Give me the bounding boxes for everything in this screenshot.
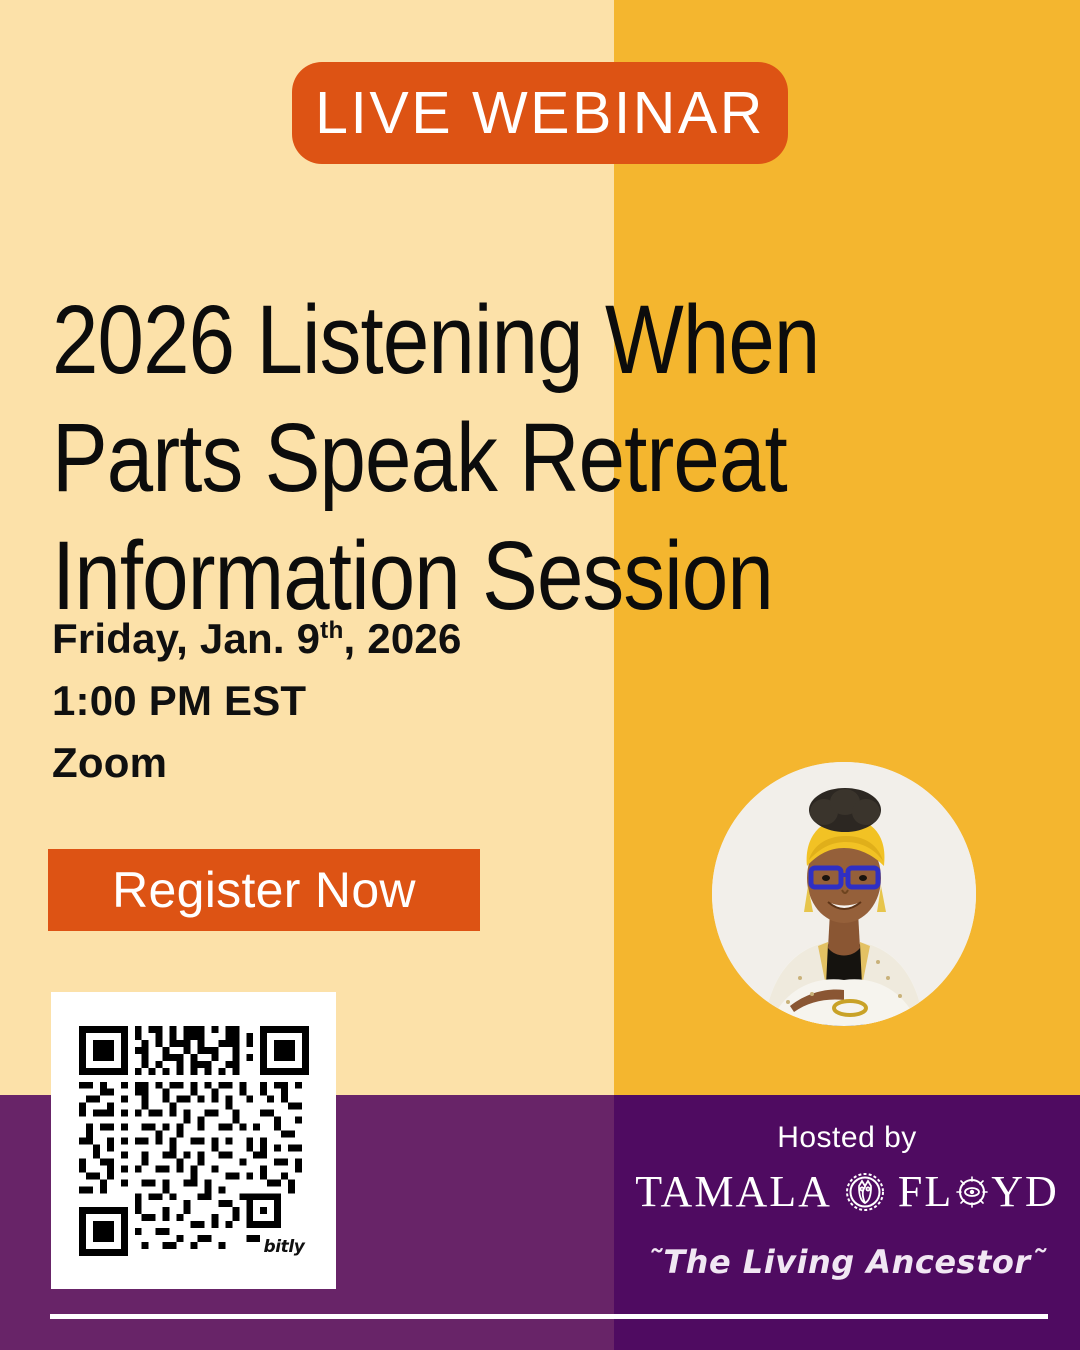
page-title: 2026 Listening When Parts Speak Retreat …: [52, 281, 878, 635]
event-time: 1:00 PM EST: [52, 670, 462, 732]
qr-code-svg: [79, 1026, 309, 1256]
footer-divider: [50, 1314, 1048, 1319]
logo-word-tamala: TAMALA: [635, 1170, 832, 1214]
event-details: Friday, Jan. 9th, 2026 1:00 PM EST Zoom: [52, 608, 462, 794]
owl-in-sunburst-icon: [841, 1168, 889, 1216]
hosted-by-label: Hosted by: [614, 1121, 1080, 1155]
register-now-label: Register Now: [112, 865, 416, 915]
qr-brand-label: bitly: [261, 1236, 306, 1258]
event-date-ordinal: th: [320, 617, 343, 644]
logo-floyd: FL YD: [898, 1170, 1059, 1214]
webinar-poster: LIVE WEBINAR 2026 Listening When Parts S…: [0, 0, 1080, 1350]
event-platform: Zoom: [52, 732, 462, 794]
logo-word-yd: YD: [991, 1170, 1059, 1214]
live-webinar-badge: LIVE WEBINAR: [292, 62, 788, 164]
register-now-button[interactable]: Register Now: [48, 849, 480, 931]
live-webinar-label: LIVE WEBINAR: [315, 84, 765, 143]
speaker-portrait-illustration: [712, 762, 976, 1026]
brand-tagline: ˜The Living Ancestor˜: [614, 1243, 1080, 1281]
qr-code-card[interactable]: bitly: [51, 992, 336, 1289]
event-date-main: Friday, Jan. 9: [52, 615, 320, 662]
speaker-portrait: [712, 762, 976, 1026]
qr-code-image[interactable]: bitly: [79, 1026, 309, 1256]
title-line-2: Parts Speak Retreat: [52, 399, 878, 517]
sun-eye-icon: [954, 1174, 990, 1210]
event-date: Friday, Jan. 9th, 2026: [52, 608, 462, 670]
event-date-year: , 2026: [344, 615, 462, 662]
logo-word-fl: FL: [898, 1170, 953, 1214]
brand-logo: TAMALA FL: [614, 1168, 1080, 1216]
title-line-1: 2026 Listening When: [52, 281, 878, 399]
